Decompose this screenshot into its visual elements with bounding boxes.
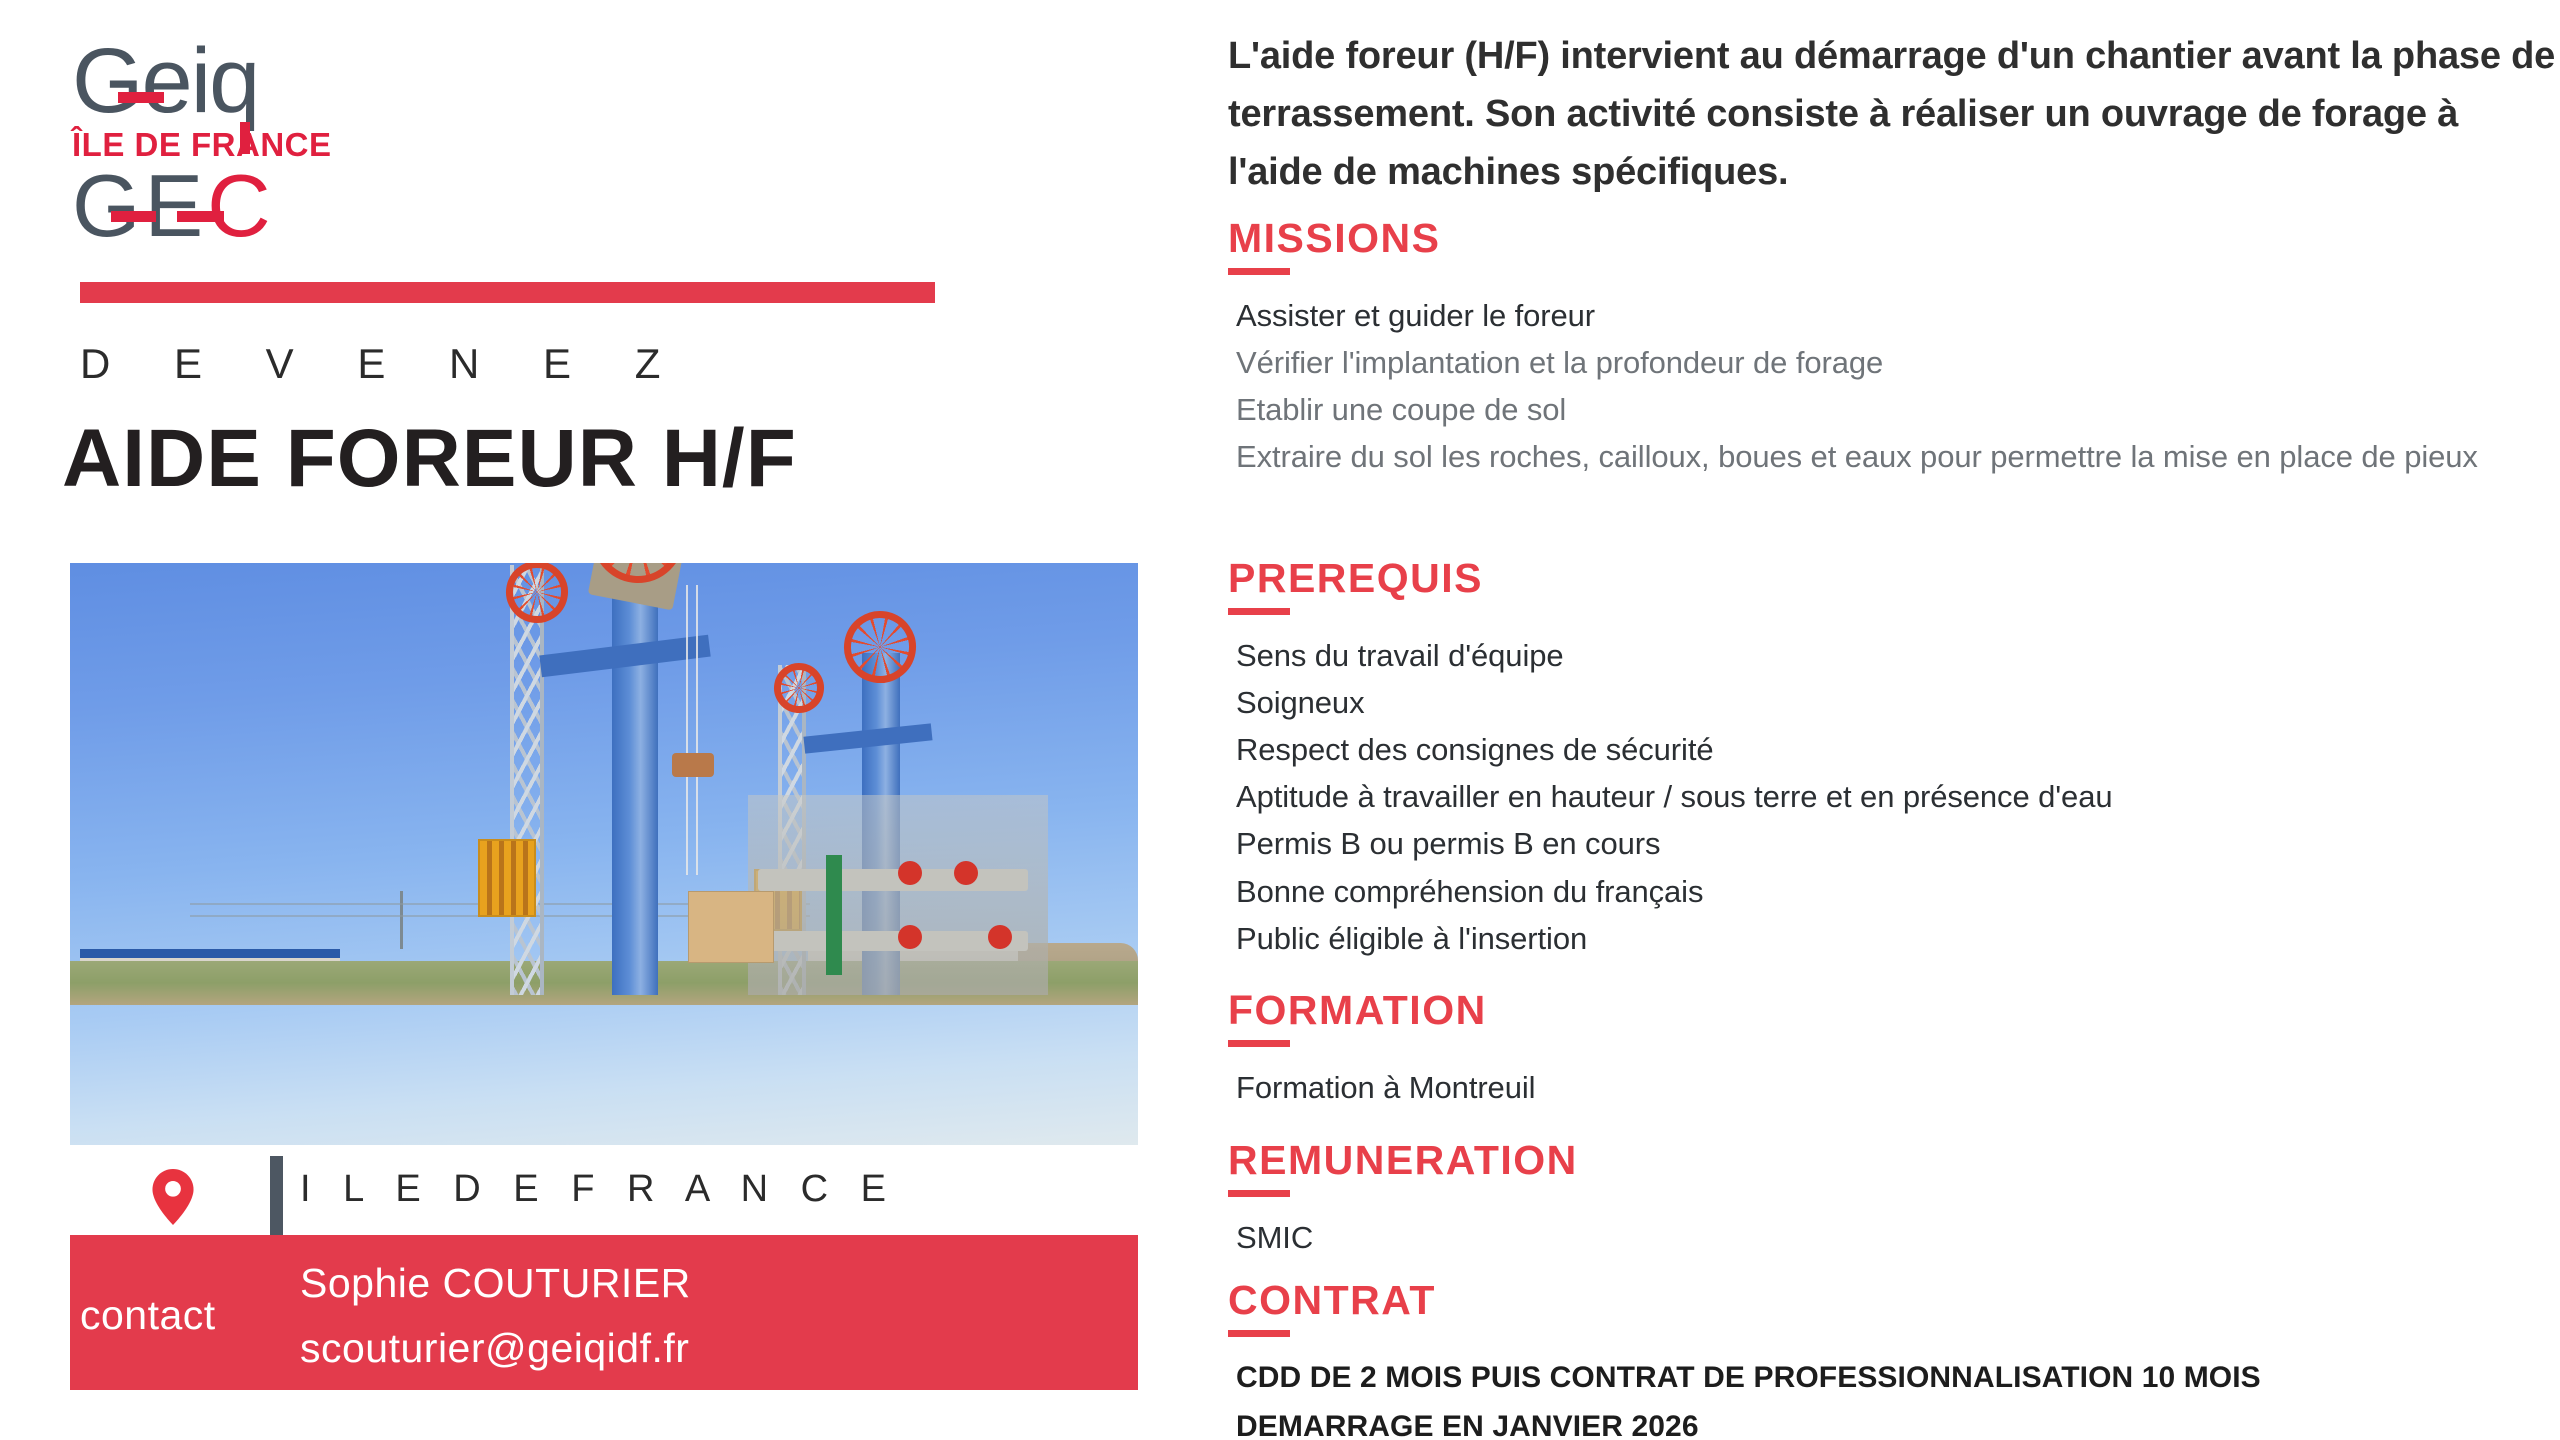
list-item: Extraire du sol les roches, cailloux, bo…	[1228, 433, 2558, 480]
list-item: Assister et guider le foreur	[1228, 292, 2558, 339]
logo-q-accent-tail	[240, 122, 250, 154]
logo-geiq-wordmark: Geiq	[72, 38, 258, 125]
plant-column	[826, 855, 842, 975]
photo-plant-equipment	[748, 795, 1048, 995]
derrick-cable	[696, 585, 698, 875]
logo-gec-accent-bar-2	[177, 211, 224, 222]
right-column: L'aide foreur (H/F) intervient au démarr…	[1228, 0, 2548, 1440]
list-item: Respect des consignes de sécurité	[1228, 726, 2558, 773]
contact-label: contact	[80, 1292, 216, 1339]
photo-pylon	[400, 891, 403, 949]
logo-gec-c: C	[207, 156, 275, 255]
job-intro-paragraph: L'aide foreur (H/F) intervient au démarr…	[1228, 28, 2558, 201]
list-item: Sens du travail d'équipe	[1228, 632, 2558, 679]
list-item: CDD DE 2 MOIS PUIS CONTRAT DE PROFESSION…	[1228, 1354, 2558, 1403]
logo-geiq-text: Geiq	[72, 30, 258, 132]
section-formation: FORMATION Formation à Montreuil	[1228, 990, 2558, 1111]
section-missions-list: Assister et guider le foreur Vérifier l'…	[1228, 292, 2558, 480]
brand-divider-rule	[80, 282, 935, 303]
section-remuneration-rule	[1228, 1190, 1290, 1197]
logo-g-accent-bar	[118, 92, 164, 103]
job-poster: Geiq ÎLE DE FRANCE GEC D E V E N E Z AID…	[0, 0, 2560, 1440]
section-prerequis-heading: PREREQUIS	[1228, 558, 2558, 599]
list-item: Public éligible à l'insertion	[1228, 915, 2558, 962]
section-missions-rule	[1228, 268, 1290, 275]
section-prerequis-rule	[1228, 608, 1290, 615]
drilling-rig-photo	[70, 563, 1138, 1145]
list-item: Etablir une coupe de sol	[1228, 386, 2558, 433]
list-item: Vérifier l'implantation et la profondeur…	[1228, 339, 2558, 386]
list-item: Bonne compréhension du français	[1228, 868, 2558, 915]
section-contrat-rule	[1228, 1330, 1290, 1337]
logo-gec-g: G	[72, 156, 144, 255]
logo-gec-wordmark: GEC	[72, 162, 275, 250]
plant-tank	[688, 891, 774, 963]
derrick-traveling-block	[672, 753, 714, 777]
plant-valve	[898, 861, 922, 885]
section-contrat-list: CDD DE 2 MOIS PUIS CONTRAT DE PROFESSION…	[1228, 1354, 2558, 1440]
section-formation-list: Formation à Montreuil	[1228, 1064, 2558, 1111]
map-pin-icon	[150, 1169, 196, 1225]
left-column: Geiq ÎLE DE FRANCE GEC D E V E N E Z AID…	[0, 0, 1180, 1440]
list-item: Formation à Montreuil	[1228, 1064, 2558, 1111]
location-row	[150, 1162, 196, 1232]
derrick-cable	[686, 585, 688, 875]
section-formation-rule	[1228, 1040, 1290, 1047]
plant-valve	[954, 861, 978, 885]
section-remuneration-heading: REMUNERATION	[1228, 1140, 2558, 1181]
list-item: SMIC	[1228, 1214, 2558, 1261]
section-prerequis: PREREQUIS Sens du travail d'équipe Soign…	[1228, 558, 2558, 962]
brand-logo: Geiq ÎLE DE FRANCE GEC	[72, 38, 632, 250]
section-prerequis-list: Sens du travail d'équipe Soigneux Respec…	[1228, 632, 2558, 962]
list-item: Permis B ou permis B en cours	[1228, 820, 2558, 867]
section-contrat-heading: CONTRAT	[1228, 1280, 2558, 1321]
plant-pipe	[758, 869, 1028, 891]
section-remuneration-list: SMIC	[1228, 1214, 2558, 1261]
list-item: DEMARRAGE EN JANVIER 2026	[1228, 1403, 2558, 1440]
section-formation-heading: FORMATION	[1228, 990, 2558, 1031]
derrick-mast	[612, 563, 658, 995]
list-item: Aptitude à travailler en hauteur / sous …	[1228, 773, 2558, 820]
contact-email[interactable]: scouturier@geiqidf.fr	[300, 1325, 689, 1372]
plant-valve	[898, 925, 922, 949]
section-missions: MISSIONS Assister et guider le foreur Vé…	[1228, 218, 2558, 480]
section-contrat: CONTRAT CDD DE 2 MOIS PUIS CONTRAT DE PR…	[1228, 1280, 2558, 1440]
contact-person-name: Sophie COUTURIER	[300, 1260, 691, 1307]
headline-kicker: D E V E N E Z	[80, 340, 686, 388]
logo-gec-accent-bar-1	[111, 211, 156, 222]
derrick-pipe-rack	[478, 839, 536, 917]
location-label: I L E D E F R A N C E	[300, 1168, 897, 1211]
section-missions-heading: MISSIONS	[1228, 218, 2558, 259]
page-title: AIDE FOREUR H/F	[62, 412, 797, 506]
derrick-lattice	[510, 565, 544, 995]
list-item: Soigneux	[1228, 679, 2558, 726]
plant-valve	[988, 925, 1012, 949]
logo-gec-e: E	[144, 156, 207, 255]
section-remuneration: REMUNERATION SMIC	[1228, 1140, 2558, 1261]
photo-ground	[70, 977, 1138, 1145]
